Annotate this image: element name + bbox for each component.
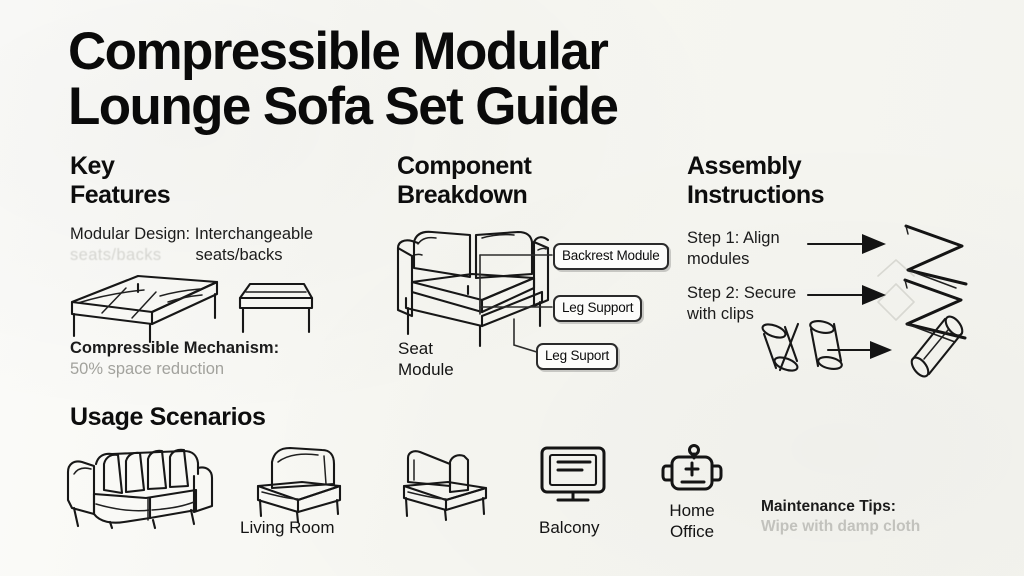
feature-compressible-mechanism-value: 50% space reduction	[70, 359, 370, 380]
expanded-ottoman-icon	[72, 276, 217, 342]
assembly-diagram	[750, 222, 1020, 387]
device-plus-icon	[660, 444, 724, 500]
compressible-ottoman-figure	[60, 262, 320, 342]
title-line-2: Lounge Sofa Set Guide	[68, 79, 828, 134]
feature-compressible-mechanism-label: Compressible Mechanism:	[70, 339, 279, 357]
assembled-clip-icon	[908, 314, 965, 380]
feature-modular-design-value: Interchangeable	[195, 225, 313, 243]
feature-compressible-mechanism: Compressible Mechanism: 50% space reduct…	[70, 338, 370, 380]
sofa-three-seater-icon	[60, 438, 230, 528]
infographic-page: Compressible Modular Lounge Sofa Set Gui…	[0, 0, 1024, 576]
section-heading-usage-scenarios: Usage Scenarios	[70, 403, 266, 432]
maintenance-tips: Maintenance Tips: Wipe with damp cloth	[761, 497, 1001, 537]
monitor-icon	[538, 444, 608, 506]
caption-seat-module: Seat Module	[398, 338, 454, 380]
chaise-module-icon	[398, 442, 498, 522]
maintenance-tips-label: Maintenance Tips:	[761, 498, 896, 515]
section-heading-key-features: Key Features	[70, 152, 170, 210]
title-line-1: Compressible Modular	[68, 22, 607, 81]
caption-balcony: Balcony	[539, 517, 599, 538]
arrow-right-icon-1	[808, 234, 886, 254]
ottoman-pair-illustration	[60, 262, 320, 342]
arrow-right-icon-2	[808, 285, 886, 305]
caption-living-room: Living Room	[240, 517, 335, 538]
compressed-ottoman-icon	[240, 284, 312, 332]
section-heading-component-breakdown: Component Breakdown	[397, 152, 531, 210]
maintenance-tips-value: Wipe with damp cloth	[761, 517, 1001, 537]
clip-cylinder-icon-2	[809, 319, 843, 371]
callout-leg-support-1[interactable]: Leg Support	[553, 295, 642, 322]
section-heading-assembly-instructions: Assembly Instructions	[687, 152, 824, 210]
caption-home-office: Home Office	[663, 500, 721, 542]
callout-backrest-module[interactable]: Backrest Module	[553, 243, 669, 270]
folded-module-icon-1	[906, 226, 966, 288]
page-title: Compressible Modular Lounge Sofa Set Gui…	[68, 24, 828, 134]
armchair-module-icon	[248, 442, 348, 522]
feature-modular-design-label: Modular Design:	[70, 225, 190, 243]
callout-leg-support-2[interactable]: Leg Suport	[536, 343, 618, 370]
clip-cylinder-icon-1	[761, 322, 799, 374]
